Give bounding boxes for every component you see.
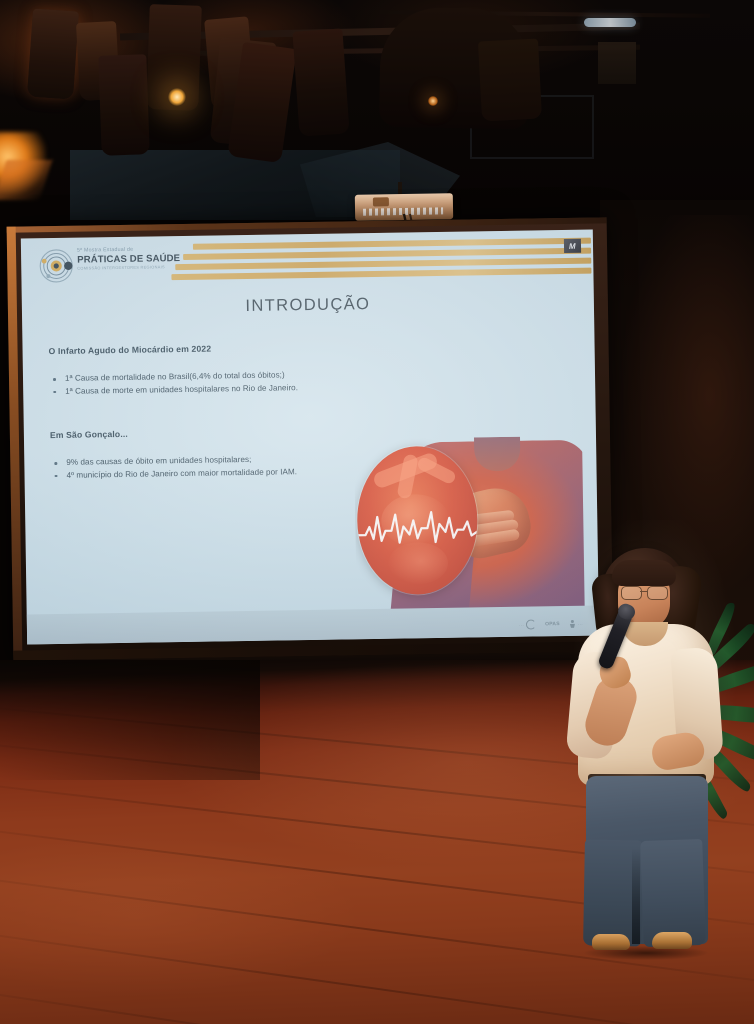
ceiling-rigging xyxy=(0,0,754,215)
heart-vessel xyxy=(396,454,418,500)
presenter xyxy=(566,548,726,958)
presenter-jeans-seam xyxy=(632,848,640,944)
partner-logo-2: OPAS xyxy=(545,621,560,627)
section-2-bullets: 9% das causas de óbito em unidades hospi… xyxy=(50,452,390,483)
ecg-waveform-icon xyxy=(357,503,478,551)
presentation-photo-scene: 5ª Mostra Estadual de PRÁTICAS DE SAÚDE … xyxy=(0,0,754,1024)
slide-body: O Infarto Agudo do Miocárdio em 2022 1ª … xyxy=(49,341,391,483)
presenter-leg-right xyxy=(640,839,706,947)
lit-spotlight-icon xyxy=(428,96,438,106)
event-logo-text: 5ª Mostra Estadual de PRÁTICAS DE SAÚDE … xyxy=(77,246,185,272)
floor-shadow-left xyxy=(0,660,260,780)
stage-light-fixture xyxy=(98,54,149,156)
stage-light-fixture xyxy=(292,28,349,136)
gold-stripe xyxy=(171,268,591,280)
section-1-lead: O Infarto Agudo do Miocárdio em 2022 xyxy=(49,341,389,356)
presenter-hair-fringe xyxy=(612,560,676,586)
partner-logo-1: ··· xyxy=(519,619,536,629)
logo-line-2: PRÁTICAS DE SAÚDE xyxy=(77,253,185,266)
corner-brand-letter: M xyxy=(568,241,576,250)
presenter-shoe-left xyxy=(592,934,630,950)
concentric-circles-logo-icon xyxy=(39,249,74,284)
glasses-bridge xyxy=(640,591,647,592)
screen-frame-left xyxy=(7,227,23,661)
ceiling-light-strip xyxy=(584,18,636,27)
stage-light-fixture xyxy=(478,38,542,121)
presenter-shoe-right xyxy=(652,932,692,949)
projected-slide: 5ª Mostra Estadual de PRÁTICAS DE SAÚDE … xyxy=(21,230,599,645)
projector-lens-icon xyxy=(373,197,389,206)
ceiling-panel xyxy=(598,42,636,84)
projector-vents xyxy=(363,207,443,215)
logo-line-3: COMISSÃO INTERGESTORES REGIONAIS xyxy=(77,264,185,272)
lit-spotlight-icon xyxy=(168,88,186,106)
header-gold-stripes xyxy=(171,237,592,284)
event-logo: 5ª Mostra Estadual de PRÁTICAS DE SAÚDE … xyxy=(39,244,186,286)
glasses-lens-left xyxy=(621,586,642,600)
section-1-bullets: 1ª Causa de mortalidade no Brasil(6,4% d… xyxy=(49,368,389,399)
slide-title: INTRODUÇÃO xyxy=(22,292,594,320)
stage-light-fixture xyxy=(27,9,79,100)
projection-screen: 5ª Mostra Estadual de PRÁTICAS DE SAÚDE … xyxy=(7,217,614,660)
ceiling-projector xyxy=(355,193,453,221)
glasses-lens-right xyxy=(647,586,668,600)
corner-brand-mark: M xyxy=(564,239,581,253)
section-2-lead: Em São Gonçalo... xyxy=(50,425,390,440)
glasses-icon xyxy=(620,586,670,598)
warm-light-glow xyxy=(0,160,52,200)
slide-footer-bar: ··· OPAS ··· xyxy=(27,605,599,644)
